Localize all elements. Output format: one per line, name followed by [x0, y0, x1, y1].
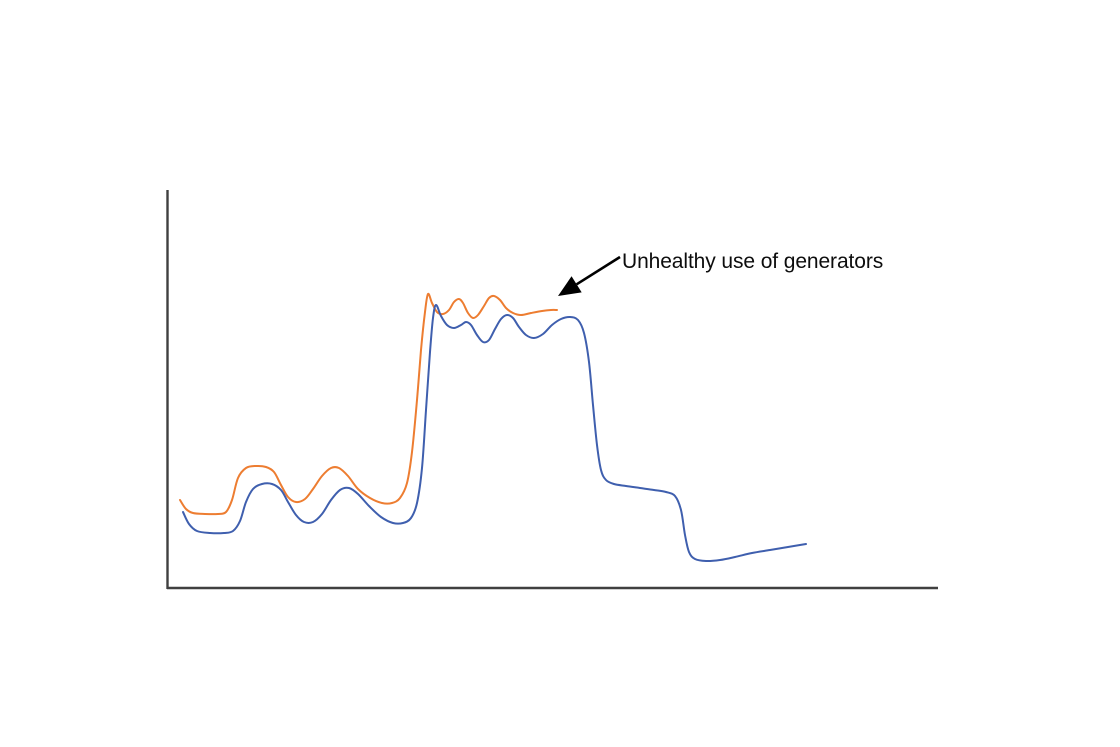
annotation-label-unhealthy-generators: Unhealthy use of generators: [622, 250, 883, 273]
chart-svg: Unhealthy use of generators: [0, 0, 1120, 747]
chart-canvas: Unhealthy use of generators: [0, 0, 1120, 747]
